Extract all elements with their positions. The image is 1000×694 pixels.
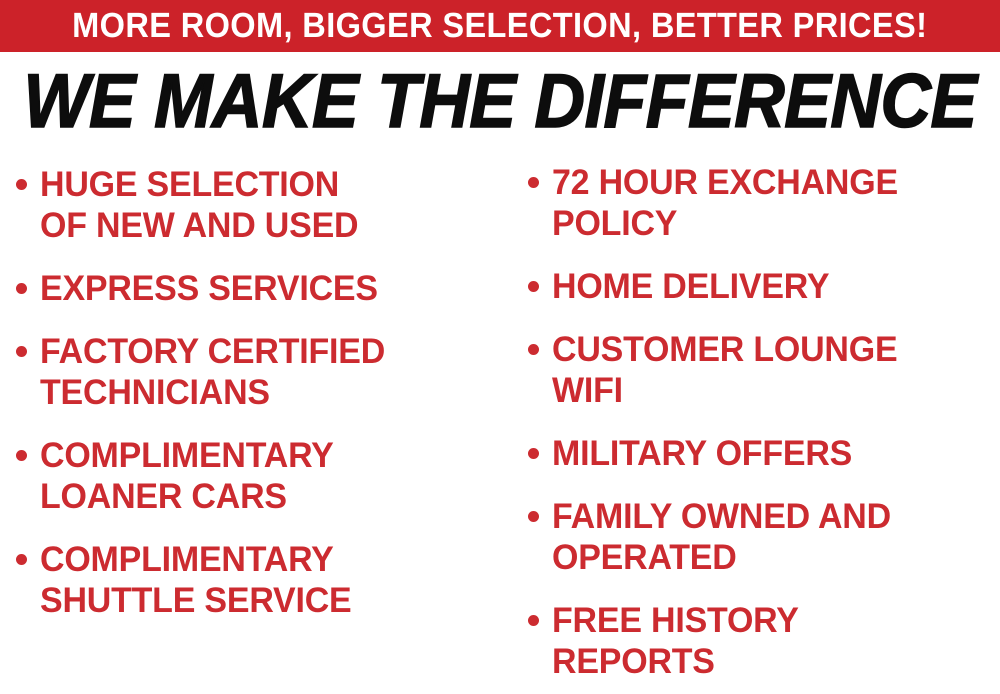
bullet-dot-icon: [16, 554, 27, 565]
list-item-label: HUGE SELECTION OF NEW AND USED: [40, 164, 496, 246]
list-item-label: 72 HOUR EXCHANGE POLICY: [552, 162, 987, 244]
list-item: HUGE SELECTION OF NEW AND USED: [16, 164, 510, 246]
benefits-column-left: HUGE SELECTION OF NEW AND USED EXPRESS S…: [0, 152, 510, 694]
list-item-label: FAMILY OWNED AND OPERATED: [552, 496, 987, 578]
list-item-label: COMPLIMENTARY LOANER CARS: [40, 435, 496, 517]
list-item: FREE HISTORY REPORTS: [528, 600, 1000, 682]
list-item-label: FACTORY CERTIFIED TECHNICIANS: [40, 331, 496, 413]
bullet-dot-icon: [528, 281, 539, 292]
list-item: CUSTOMER LOUNGE WIFI: [528, 329, 1000, 411]
list-item-label: CUSTOMER LOUNGE WIFI: [552, 329, 987, 411]
bullet-dot-icon: [16, 346, 27, 357]
bullet-dot-icon: [528, 177, 539, 188]
bullet-dot-icon: [528, 511, 539, 522]
list-item-label: HOME DELIVERY: [552, 266, 987, 307]
list-item: COMPLIMENTARY SHUTTLE SERVICE: [16, 539, 510, 621]
benefits-columns: HUGE SELECTION OF NEW AND USED EXPRESS S…: [0, 152, 1000, 694]
list-item-label: MILITARY OFFERS: [552, 433, 987, 474]
list-item-label: EXPRESS SERVICES: [40, 268, 496, 309]
banner-headline-text: MORE ROOM, BIGGER SELECTION, BETTER PRIC…: [72, 8, 927, 44]
bullet-dot-icon: [528, 344, 539, 355]
benefits-column-right: 72 HOUR EXCHANGE POLICY HOME DELIVERY CU…: [510, 152, 1000, 694]
bullet-dot-icon: [16, 179, 27, 190]
promo-poster: MORE ROOM, BIGGER SELECTION, BETTER PRIC…: [0, 0, 1000, 694]
bullet-dot-icon: [16, 283, 27, 294]
list-item: FACTORY CERTIFIED TECHNICIANS: [16, 331, 510, 413]
bullet-dot-icon: [528, 448, 539, 459]
list-item: 72 HOUR EXCHANGE POLICY: [528, 162, 1000, 244]
list-item: COMPLIMENTARY LOANER CARS: [16, 435, 510, 517]
list-item: EXPRESS SERVICES: [16, 268, 510, 309]
list-item: MILITARY OFFERS: [528, 433, 1000, 474]
bullet-dot-icon: [528, 615, 539, 626]
bullet-dot-icon: [16, 450, 27, 461]
page-title: WE MAKE THE DIFFERENCE: [23, 63, 976, 141]
main-headline-area: WE MAKE THE DIFFERENCE: [0, 60, 1000, 144]
list-item-label: COMPLIMENTARY SHUTTLE SERVICE: [40, 539, 496, 621]
list-item-label: FREE HISTORY REPORTS: [552, 600, 987, 682]
list-item: FAMILY OWNED AND OPERATED: [528, 496, 1000, 578]
top-banner: MORE ROOM, BIGGER SELECTION, BETTER PRIC…: [0, 0, 1000, 52]
list-item: HOME DELIVERY: [528, 266, 1000, 307]
